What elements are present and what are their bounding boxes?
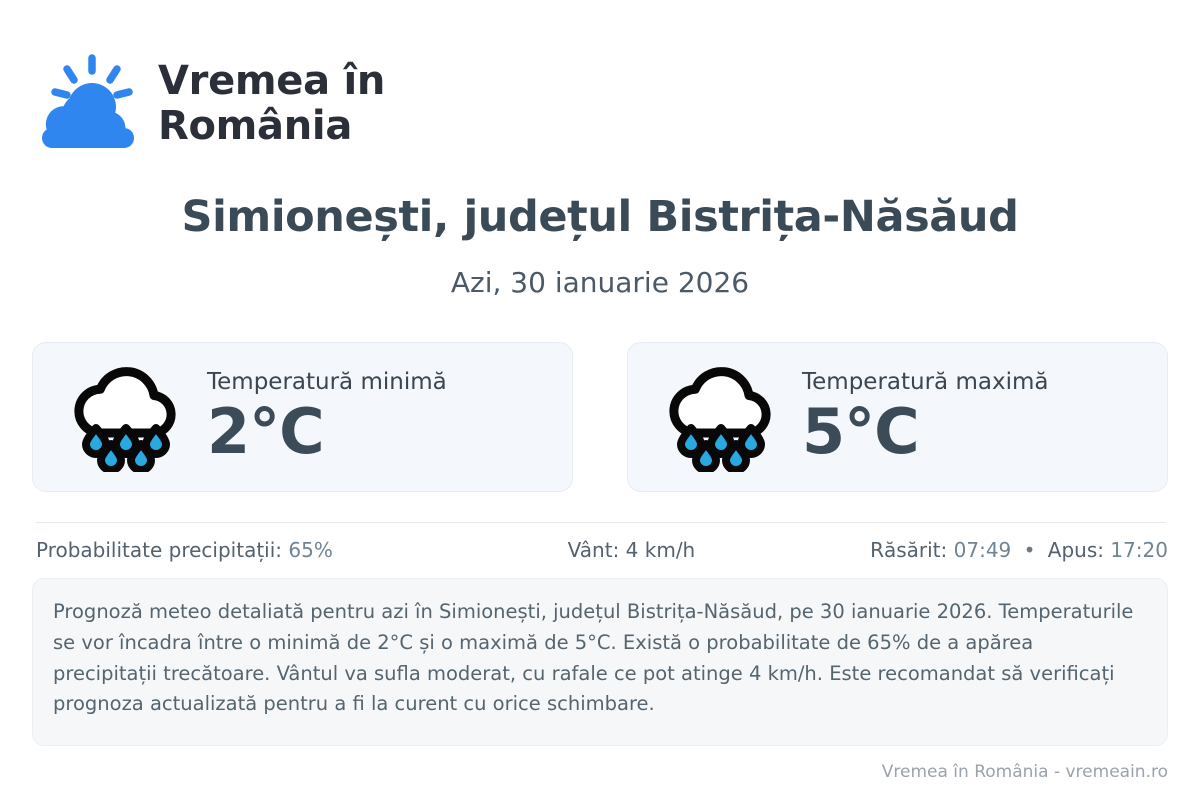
- stat-sunrise-value: 07:49: [954, 538, 1012, 562]
- stat-precipitation-label: Probabilitate precipitații:: [36, 538, 282, 562]
- card-max-body: Temperatură maximă 5°C: [802, 368, 1048, 467]
- stat-sun-times: Răsărit: 07:49 • Apus: 17:20: [870, 538, 1168, 562]
- rain-cloud-icon: [67, 362, 185, 472]
- card-min-value: 2°C: [207, 397, 447, 466]
- stat-separator-dot: •: [1018, 538, 1042, 562]
- page-title: Simionești, județul Bistrița-Năsăud: [0, 192, 1200, 242]
- stat-sunset-value: 17:20: [1110, 538, 1168, 562]
- brand-header[interactable]: Vremea în România: [36, 52, 385, 156]
- stats-row: Probabilitate precipitații: 65% Vânt: 4 …: [36, 538, 1168, 562]
- rain-cloud-icon: [662, 362, 780, 472]
- card-max-temperature: Temperatură maximă 5°C: [627, 342, 1168, 492]
- card-min-label: Temperatură minimă: [207, 370, 447, 395]
- forecast-description-text: Prognoză meteo detaliată pentru azi în S…: [53, 597, 1141, 720]
- stat-wind: Vânt: 4 km/h: [333, 538, 870, 562]
- card-min-temperature: Temperatură minimă 2°C: [32, 342, 573, 492]
- brand-name: Vremea în România: [158, 59, 385, 149]
- forecast-description-box: Prognoză meteo detaliată pentru azi în S…: [32, 578, 1168, 746]
- stat-sunset-label: Apus:: [1048, 538, 1104, 562]
- stats-divider: [36, 522, 1166, 523]
- stat-precipitation-value: 65%: [288, 538, 332, 562]
- stat-wind-label: Vânt:: [568, 538, 620, 562]
- card-max-label: Temperatură maximă: [802, 370, 1048, 395]
- sun-behind-cloud-icon: [36, 52, 140, 156]
- page-subtitle-date: Azi, 30 ianuarie 2026: [0, 266, 1200, 299]
- card-min-body: Temperatură minimă 2°C: [207, 368, 447, 467]
- stat-sunrise-label: Răsărit:: [870, 538, 947, 562]
- weather-forecast-page: Vremea în România Simionești, județul Bi…: [0, 0, 1200, 800]
- card-max-value: 5°C: [802, 397, 1048, 466]
- temperature-cards: Temperatură minimă 2°C Temperatură maxim…: [32, 342, 1168, 492]
- stat-precipitation: Probabilitate precipitații: 65%: [36, 538, 333, 562]
- stat-wind-value: 4 km/h: [626, 538, 696, 562]
- footer-attribution: Vremea în România - vremeain.ro: [882, 762, 1168, 782]
